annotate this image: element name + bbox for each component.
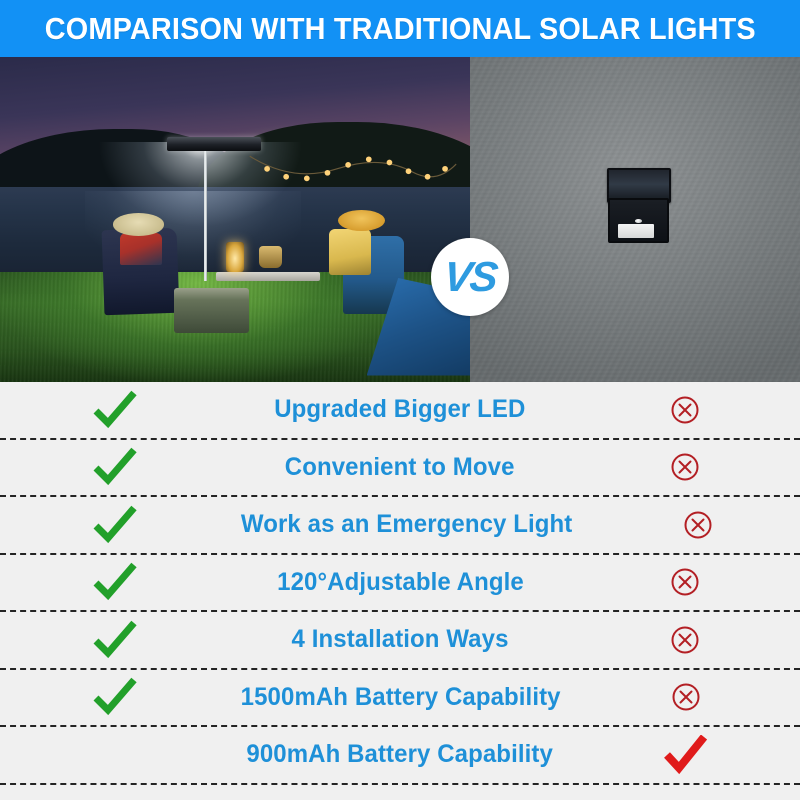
row-label-cell: Convenient to Move xyxy=(230,453,570,482)
check-green-icon xyxy=(92,390,138,430)
table-row: 4 Installation Ways xyxy=(0,610,800,668)
check-green-icon xyxy=(92,677,138,717)
row-label-cell: 1500mAh Battery Capability xyxy=(230,683,571,712)
row-right-icon-cell xyxy=(570,395,800,425)
row-label-cell: Work as an Emergency Light xyxy=(230,510,583,539)
feature-label: Convenient to Move xyxy=(285,453,515,482)
person-right-body xyxy=(329,229,371,275)
table-row: 120°Adjustable Angle xyxy=(0,553,800,611)
row-left-icon-cell xyxy=(0,447,230,487)
check-green-icon xyxy=(92,505,138,545)
traditional-solar-light-fixture xyxy=(605,168,671,240)
x-circle-red-icon xyxy=(670,567,700,597)
x-circle-red-icon xyxy=(670,452,700,482)
row-left-icon-cell xyxy=(0,754,230,755)
feature-label: 120°Adjustable Angle xyxy=(277,568,524,597)
feature-label: Upgraded Bigger LED xyxy=(274,395,525,424)
row-label-cell: 4 Installation Ways xyxy=(230,625,570,654)
row-right-icon-cell xyxy=(570,625,800,655)
row-right-icon-cell xyxy=(570,567,800,597)
person-right-hat xyxy=(338,210,385,231)
table-row: Convenient to Move xyxy=(0,438,800,496)
row-left-icon-cell xyxy=(0,562,230,602)
row-label-cell: Upgraded Bigger LED xyxy=(230,395,570,424)
check-green-icon xyxy=(92,620,138,660)
row-right-icon-cell xyxy=(570,735,800,775)
row-right-icon-cell xyxy=(571,682,800,712)
cooler-box xyxy=(174,288,249,334)
x-circle-red-icon xyxy=(670,395,700,425)
feature-label: 900mAh Battery Capability xyxy=(247,740,554,769)
row-left-icon-cell xyxy=(0,390,230,430)
camping-table xyxy=(216,272,319,282)
row-label-cell: 120°Adjustable Angle xyxy=(230,568,570,597)
photo-comparison-band: VS xyxy=(0,57,800,382)
check-green-icon xyxy=(92,447,138,487)
header-banner: COMPARISON WITH TRADITIONAL SOLAR LIGHTS xyxy=(0,0,800,57)
person-left-hat xyxy=(113,213,165,236)
feature-comparison-table: Upgraded Bigger LED Convenient to Move xyxy=(0,382,800,800)
row-right-icon-cell xyxy=(583,510,800,540)
feature-label: 4 Installation Ways xyxy=(291,625,508,654)
x-circle-red-icon xyxy=(670,625,700,655)
row-label-cell: 900mAh Battery Capability xyxy=(230,740,570,769)
row-left-icon-cell xyxy=(0,620,230,660)
table-row: Work as an Emergency Light xyxy=(0,495,800,553)
camping-night-scene-photo xyxy=(0,57,470,382)
table-row: 900mAh Battery Capability xyxy=(0,725,800,783)
kettle xyxy=(259,246,283,269)
table-bottom-divider xyxy=(0,783,800,785)
feature-label: Work as an Emergency Light xyxy=(241,510,572,539)
light-housing xyxy=(608,198,669,243)
light-pole xyxy=(204,145,207,282)
led-lamp-head xyxy=(167,137,261,151)
motion-sensor-icon xyxy=(635,219,642,223)
table-row: Upgraded Bigger LED xyxy=(0,382,800,438)
check-red-icon xyxy=(662,735,708,775)
x-circle-red-icon xyxy=(671,682,701,712)
table-row: 1500mAh Battery Capability xyxy=(0,668,800,726)
row-left-icon-cell xyxy=(0,505,230,545)
check-green-icon xyxy=(92,562,138,602)
row-right-icon-cell xyxy=(570,452,800,482)
person-left-body xyxy=(120,233,162,266)
lantern xyxy=(226,242,245,271)
no-icon-placeholder xyxy=(115,754,116,755)
x-circle-red-icon xyxy=(683,510,713,540)
comparison-infographic: COMPARISON WITH TRADITIONAL SOLAR LIGHTS xyxy=(0,0,800,800)
row-left-icon-cell xyxy=(0,677,230,717)
feature-label: 1500mAh Battery Capability xyxy=(241,683,561,712)
page-title: COMPARISON WITH TRADITIONAL SOLAR LIGHTS xyxy=(44,11,755,47)
traditional-solar-light-photo xyxy=(470,57,800,382)
vs-badge: VS xyxy=(431,238,509,316)
light-lens xyxy=(618,224,654,238)
vs-label: VS xyxy=(442,256,498,298)
